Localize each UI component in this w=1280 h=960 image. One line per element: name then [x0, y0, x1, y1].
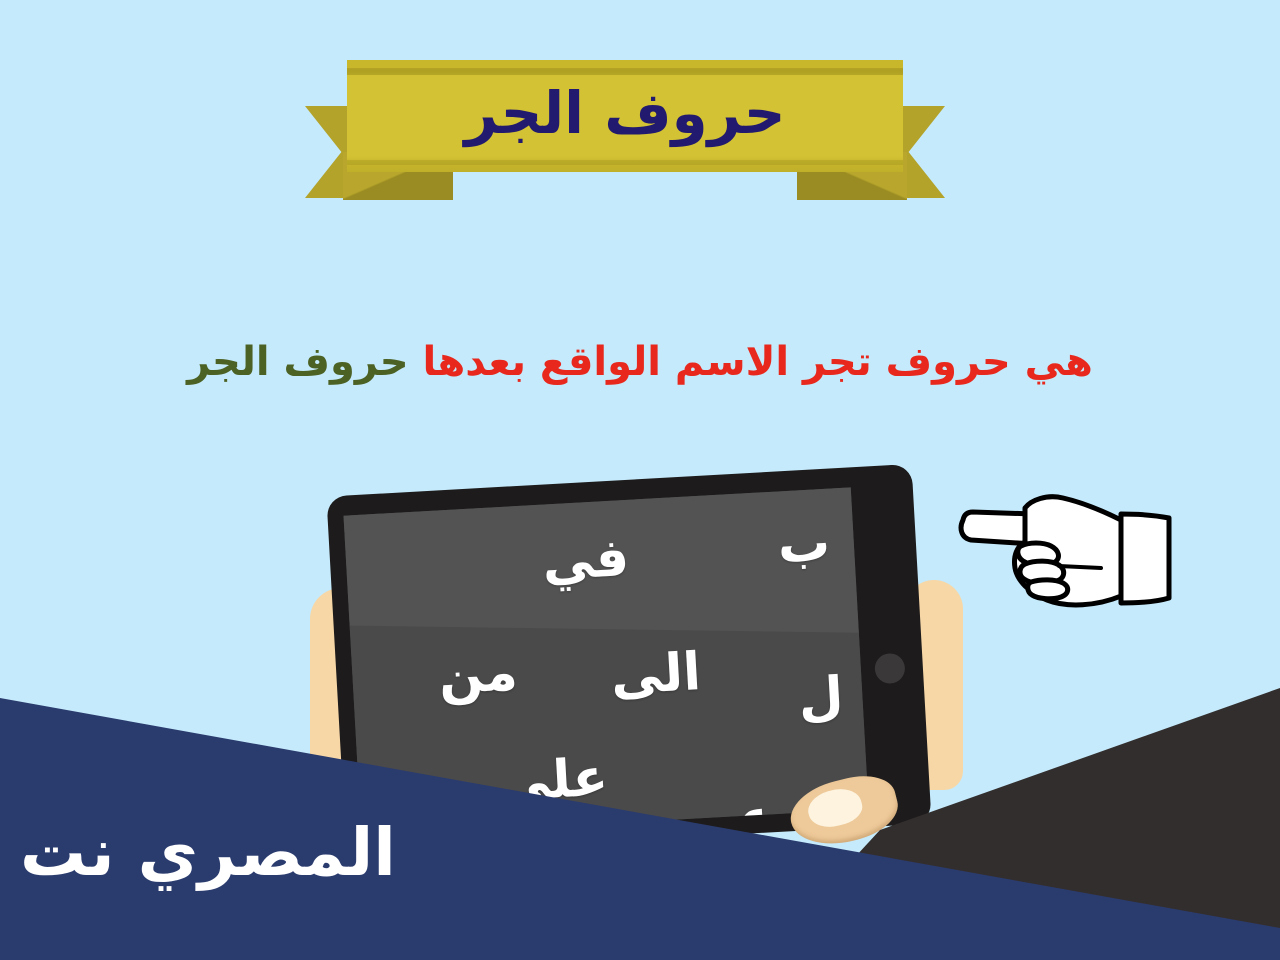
watermark-label: المصري نت — [20, 820, 396, 886]
infographic-canvas: حروف الجر هي حروف تجر الاسم الواقع بعدها… — [0, 0, 1280, 960]
